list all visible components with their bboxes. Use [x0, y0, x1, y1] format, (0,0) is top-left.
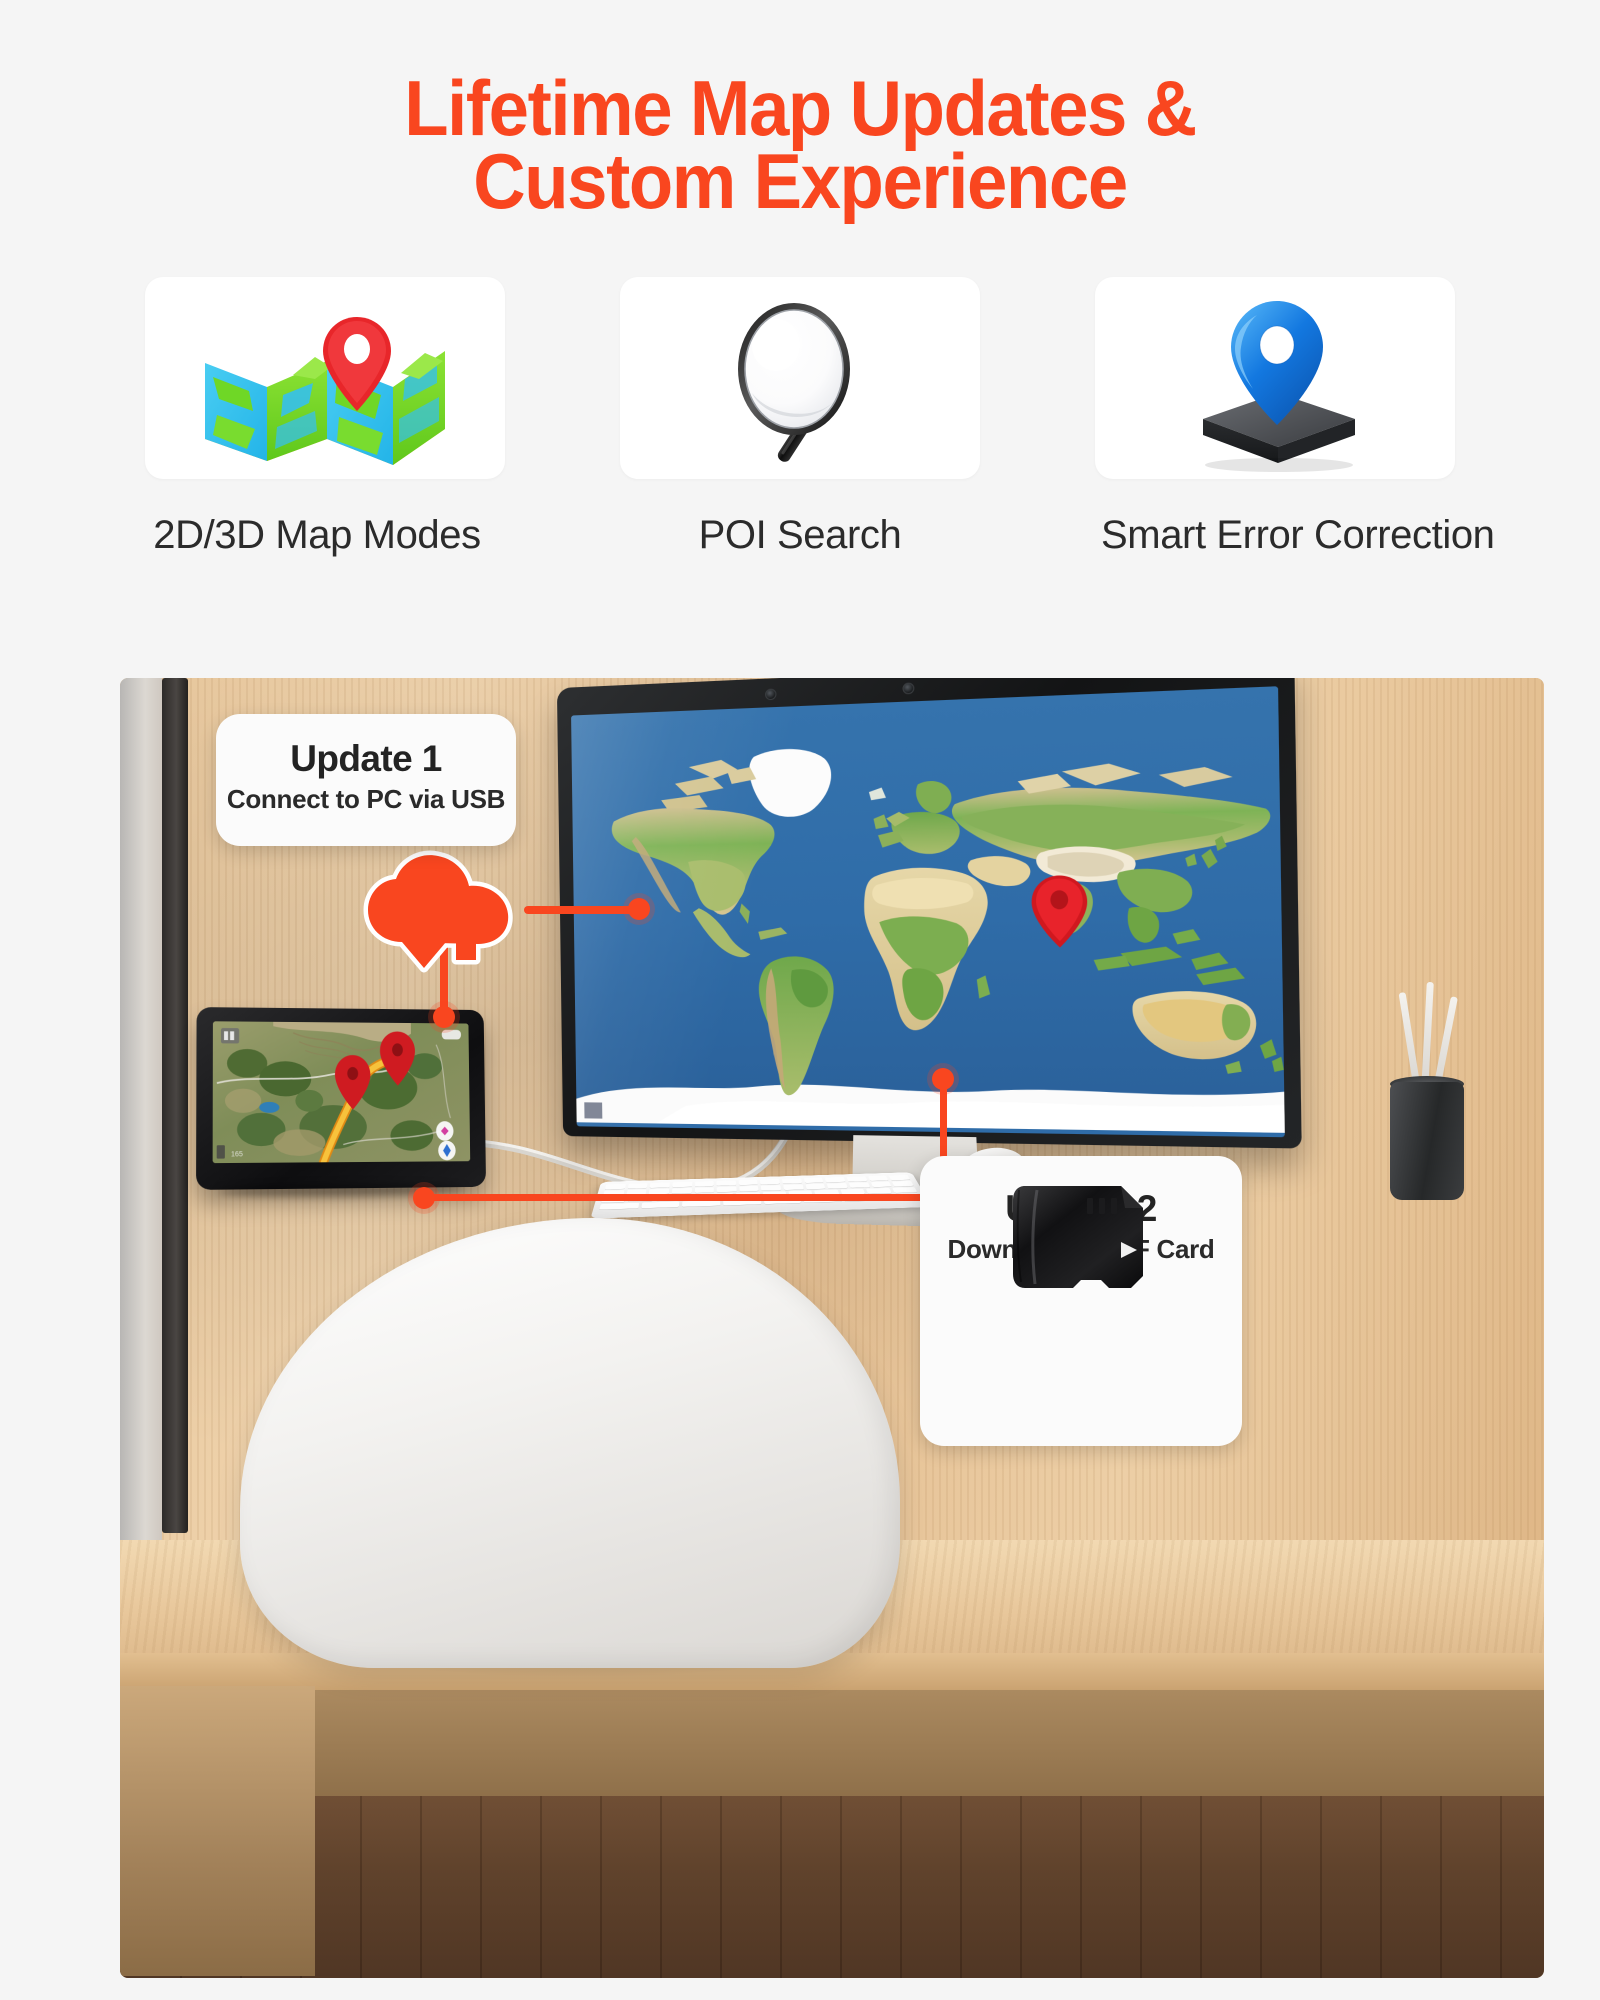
key	[627, 1183, 647, 1189]
satellite-navigation-map: 165	[213, 1021, 471, 1163]
cloud-sync-icon	[358, 846, 548, 978]
blue-location-pin-on-pedestal-icon	[1173, 293, 1383, 473]
key	[641, 1201, 680, 1208]
key	[849, 1182, 870, 1188]
key	[605, 1184, 626, 1190]
screen-corner-sticker	[584, 1102, 602, 1118]
key	[892, 1181, 913, 1186]
feature-label-error-correction: Smart Error Correction	[1101, 513, 1461, 558]
connector-dot-monitor	[628, 898, 650, 920]
pencil-cup	[1390, 1082, 1464, 1200]
feature-item-error-correction: Smart Error Correction	[1095, 277, 1455, 558]
feature-item-map-modes: 2D/3D Map Modes	[145, 277, 505, 558]
key	[761, 1185, 781, 1191]
connector-dot-tablet	[433, 1006, 455, 1028]
callout-1-subtitle: Connect to PC via USB	[216, 784, 516, 815]
page-title-line-2: Custom Experience	[56, 145, 1544, 218]
monitor-body	[557, 678, 1302, 1149]
key	[672, 1188, 692, 1194]
key	[760, 1179, 780, 1184]
key	[694, 1187, 714, 1193]
folded-map-with-pin-icon	[197, 299, 453, 467]
key	[650, 1182, 670, 1188]
feature-label-map-modes: 2D/3D Map Modes	[137, 513, 497, 558]
key	[599, 1203, 638, 1210]
desk-front-panel	[120, 1690, 1544, 1800]
floor-planks	[120, 1796, 1544, 1978]
product-scene-photo: 165	[120, 678, 1544, 1978]
connector-dot-tablet-bottom	[413, 1187, 435, 1209]
wall-trim-strip	[162, 678, 188, 1533]
key	[695, 1181, 714, 1186]
camera-icon	[765, 688, 777, 700]
monitor-screen	[571, 686, 1285, 1137]
gps-tablet-device: 165	[196, 1007, 486, 1190]
key	[825, 1177, 845, 1182]
key	[717, 1187, 737, 1193]
connector-line-tablet-to-tf	[420, 1194, 940, 1201]
feature-card-poi-search	[620, 277, 980, 479]
connector-dot-monitor-bottom	[932, 1068, 954, 1090]
gps-tablet-screen: 165	[213, 1021, 471, 1163]
feature-list: 2D/3D Map Modes	[145, 277, 1455, 558]
feature-card-error-correction	[1095, 277, 1455, 479]
key	[871, 1182, 892, 1187]
key	[889, 1175, 910, 1180]
wall-left-edge	[120, 678, 162, 1578]
key	[866, 1188, 891, 1194]
key	[782, 1178, 802, 1183]
page-title: Lifetime Map Updates & Custom Experience	[56, 0, 1544, 219]
key	[868, 1176, 889, 1181]
feature-card-map-modes	[145, 277, 505, 479]
camera-icon	[902, 682, 914, 694]
callout-update-1: Update 1 Connect to PC via USB	[216, 714, 516, 846]
svg-text:165: 165	[231, 1149, 243, 1159]
desk-side-panel	[120, 1686, 315, 1976]
feature-label-poi-search: POI Search	[620, 513, 980, 558]
key	[739, 1186, 759, 1192]
feature-item-poi-search: POI Search	[620, 277, 980, 558]
key	[672, 1182, 692, 1188]
microsd-tf-card-icon	[1003, 1180, 1159, 1308]
key	[827, 1183, 848, 1189]
key	[846, 1176, 867, 1181]
key	[805, 1184, 826, 1190]
key	[892, 1187, 918, 1193]
key	[717, 1180, 736, 1185]
key	[804, 1178, 824, 1183]
key	[783, 1184, 803, 1190]
callout-1-title: Update 1	[216, 738, 516, 780]
key	[682, 1200, 720, 1207]
magnifying-glass-icon	[712, 297, 892, 472]
callout-update-2: Update 2 Download via TF Card	[920, 1156, 1242, 1446]
all-in-one-monitor	[557, 678, 1302, 1149]
world-topographic-map	[571, 686, 1285, 1133]
key	[739, 1180, 759, 1185]
